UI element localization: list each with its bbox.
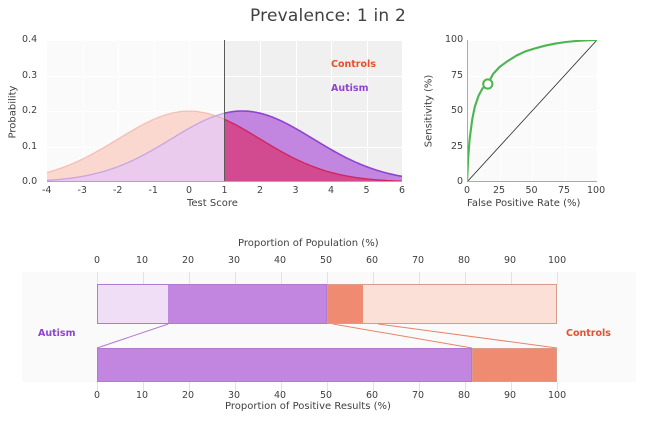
bars-label-controls: Controls (566, 328, 611, 339)
dist-xtick: -3 (78, 185, 87, 196)
roc-xtick: 75 (558, 185, 570, 196)
bars-bottom-tick: 90 (504, 390, 516, 401)
bars-bottom-tick: 10 (136, 390, 148, 401)
figure-canvas: Prevalence: 1 in 2 (0, 0, 656, 429)
connector-autism-left (97, 324, 168, 348)
roc-xtick: 50 (526, 185, 538, 196)
roc-xaxis-label: False Positive Rate (%) (467, 198, 580, 209)
roc-ytick: 75 (451, 70, 463, 81)
bars-label-autism: Autism (38, 328, 75, 339)
roc-chart: 100 75 50 25 0 0 25 50 75 100 False Posi… (467, 40, 597, 182)
dist-xtick: -1 (149, 185, 158, 196)
bars-bottom-tick: 20 (182, 390, 194, 401)
dist-xtick: 1 (222, 185, 228, 196)
dist-xtick: 2 (257, 185, 263, 196)
legend-autism: Autism (331, 83, 368, 94)
roc-xtick: 25 (493, 185, 505, 196)
dist-xaxis-label: Test Score (187, 198, 238, 209)
dist-xtick: 5 (364, 185, 370, 196)
dist-yaxis-label: Probability (8, 86, 19, 139)
bars-bottom-tick: 50 (320, 390, 332, 401)
bars-bottom-tick: 30 (228, 390, 240, 401)
dist-xtick: -4 (42, 185, 51, 196)
roc-xtick: 0 (464, 185, 470, 196)
page-title: Prevalence: 1 in 2 (0, 6, 656, 26)
dist-xtick: 6 (399, 185, 405, 196)
dist-ytick: 0.0 (22, 176, 37, 187)
bar-segment-true-positives[interactable] (97, 348, 472, 382)
bars-bottom-tick: 80 (458, 390, 470, 401)
dist-xtick: 4 (328, 185, 334, 196)
dist-xtick: 0 (186, 185, 192, 196)
bars-bottom-tick: 0 (94, 390, 100, 401)
roc-operating-point-marker (483, 79, 492, 88)
dist-ytick: 0.3 (22, 70, 37, 81)
dist-xtick: 3 (293, 185, 299, 196)
bars-bottom-axis-label: Proportion of Positive Results (%) (225, 401, 391, 412)
population-bars-chart: Proportion of Population (%) 0 10 20 30 … (22, 238, 636, 418)
roc-ytick: 0 (457, 176, 463, 187)
bars-bottom-tick: 70 (412, 390, 424, 401)
roc-ytick: 100 (445, 34, 463, 45)
dist-ytick: 0.2 (22, 105, 37, 116)
dist-ytick: 0.4 (22, 34, 37, 45)
bars-bottom-tick: 100 (548, 390, 566, 401)
bars-bottom-tick: 60 (366, 390, 378, 401)
roc-xtick: 100 (587, 185, 605, 196)
chance-diagonal (467, 40, 597, 182)
dist-xtick: -2 (113, 185, 122, 196)
bars-bottom-tick: 40 (274, 390, 286, 401)
bar-segment-false-positives[interactable] (472, 348, 557, 382)
distribution-chart: 0.4 0.3 0.2 0.1 0.0 -4 -3 -2 -1 0 1 2 3 … (47, 40, 402, 182)
roc-ytick: 50 (451, 105, 463, 116)
dist-ytick: 0.1 (22, 141, 37, 152)
roc-curve-group (467, 40, 597, 182)
legend-controls: Controls (331, 59, 376, 70)
positive-results-bar[interactable] (97, 348, 557, 382)
roc-ytick: 25 (451, 141, 463, 152)
roc-yaxis-label: Sensitivity (%) (424, 75, 435, 148)
